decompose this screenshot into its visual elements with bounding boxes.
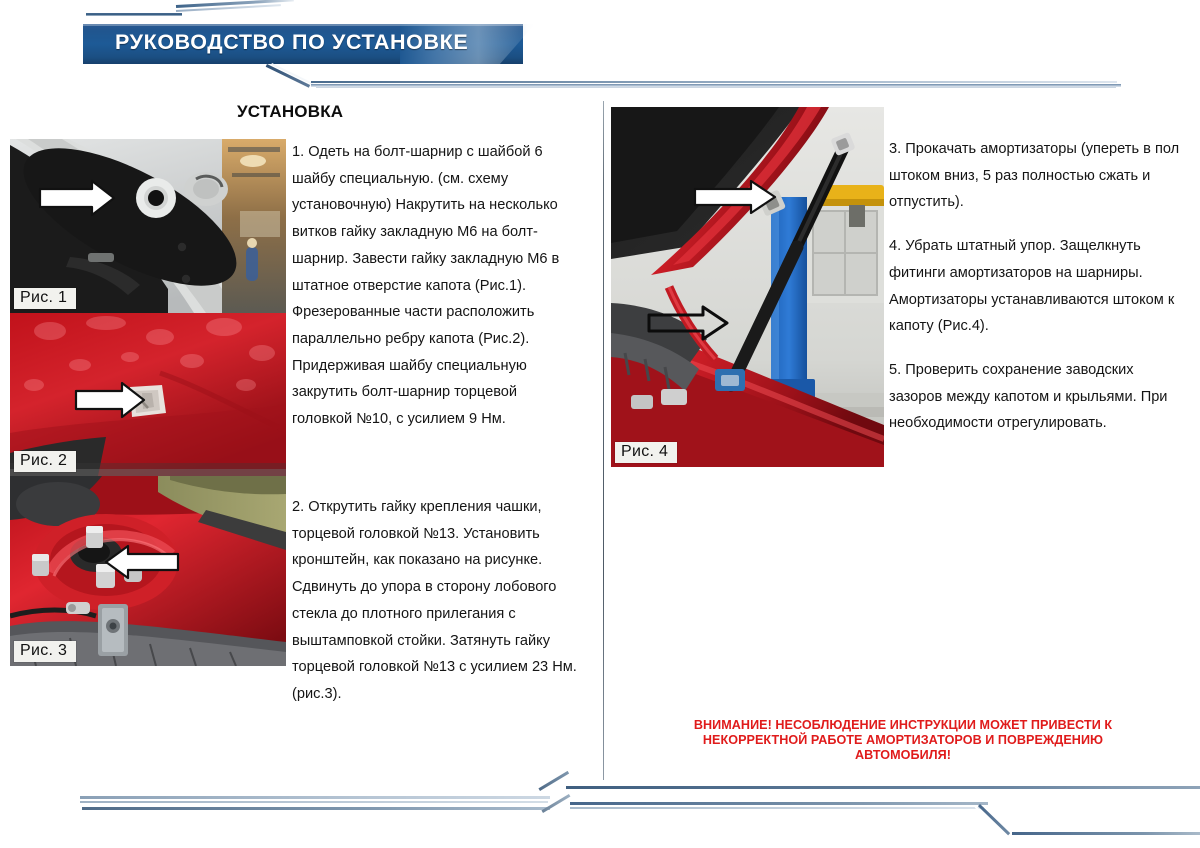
page-title: РУКОВОДСТВО ПО УСТАНОВКЕ <box>115 30 468 55</box>
header-decor-diagonal-bottom <box>266 64 310 88</box>
figure-2-caption: Рис. 2 <box>14 451 76 472</box>
header-banner-highlight <box>83 24 523 26</box>
figure-3-photo <box>10 476 286 666</box>
warning-line-3: АВТОМОБИЛЯ! <box>620 748 1186 763</box>
footer-decor-diagonal-3 <box>978 804 1010 835</box>
header-decor-line-top <box>86 13 182 16</box>
footer-decor-line-2 <box>82 807 550 810</box>
figure-1: Рис. 1 <box>10 139 286 313</box>
header-decor-rule-upper <box>311 81 1117 83</box>
figure-3-caption: Рис. 3 <box>14 641 76 662</box>
section-title: УСТАНОВКА <box>237 102 343 122</box>
step-1-text: 1. Одеть на болт-шарнир с шайбой 6 шайбу… <box>292 139 578 433</box>
header-decor-diagonal-bottom-light <box>271 63 313 85</box>
figure-1-photo <box>10 139 286 313</box>
figure-4: Рис. 4 <box>611 107 884 467</box>
step-3-text: 3. Прокачать амортизаторы (упереть в пол… <box>889 136 1189 216</box>
footer-decor-line-1b <box>80 801 548 803</box>
footer-decor-line-3 <box>566 786 1200 789</box>
warning-line-2: НЕКОРРЕКТНОЙ РАБОТЕ АМОРТИЗАТОРОВ И ПОВР… <box>620 733 1186 748</box>
warning-notice: ВНИМАНИЕ! НЕСОБЛЮДЕНИЕ ИНСТРУКЦИИ МОЖЕТ … <box>620 718 1186 764</box>
figure-3: Рис. 3 <box>10 476 286 666</box>
footer-decor-diagonal-3-light <box>975 806 1008 838</box>
footer-decor-line-5 <box>1012 832 1200 835</box>
figure-1-caption: Рис. 1 <box>14 288 76 309</box>
footer-decor-line-4b <box>570 807 984 809</box>
footer-decor-line-1 <box>80 796 550 799</box>
header-decor-rule-lower <box>316 87 1116 88</box>
footer-decor-diagonal-1 <box>538 771 569 791</box>
page-header: РУКОВОДСТВО ПО УСТАНОВКЕ <box>0 0 1200 100</box>
page-footer <box>0 770 1200 848</box>
step-4-text: 4. Убрать штатный упор. Защелкнуть фитин… <box>889 233 1189 340</box>
step-2-text: 2. Открутить гайку крепления чашки, торц… <box>292 494 578 708</box>
figure-4-photo <box>611 107 884 467</box>
figure-4-caption: Рис. 4 <box>615 442 677 463</box>
warning-line-1: ВНИМАНИЕ! НЕСОБЛЮДЕНИЕ ИНСТРУКЦИИ МОЖЕТ … <box>620 718 1186 733</box>
figure-2: Рис. 2 <box>10 313 286 476</box>
right-column-steps: 3. Прокачать амортизаторы (упереть в пол… <box>889 136 1189 454</box>
step-5-text: 5. Проверить сохранение заводских зазоро… <box>889 357 1189 437</box>
column-divider <box>603 101 604 780</box>
installation-manual-page: РУКОВОДСТВО ПО УСТАНОВКЕ УСТАНОВКА <box>0 0 1200 848</box>
footer-decor-line-4 <box>570 802 988 805</box>
